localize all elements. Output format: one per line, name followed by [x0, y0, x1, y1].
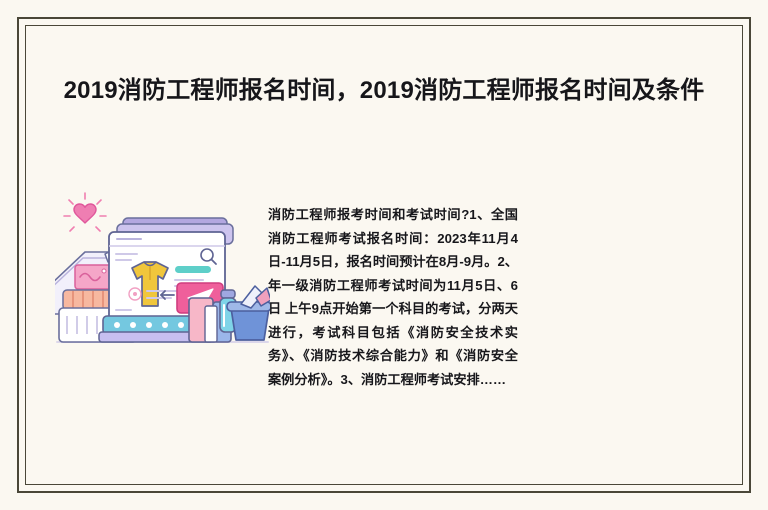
online-shopping-illustration	[55, 190, 270, 365]
article-card: 2019消防工程师报名时间，2019消防工程师报名时间及条件	[0, 0, 768, 510]
article-body-row: 消防工程师报考时间和考试时间?1、全国消防工程师考试报名时间：2023年11月4…	[25, 190, 743, 390]
article-body-text: 消防工程师报考时间和考试时间?1、全国消防工程师考试报名时间：2023年11月4…	[268, 203, 518, 391]
price-tag	[75, 265, 111, 289]
page-title: 2019消防工程师报名时间，2019消防工程师报名时间及条件	[53, 73, 715, 109]
heart-shape	[74, 204, 96, 223]
card-content: 2019消防工程师报名时间，2019消防工程师报名时间及条件	[25, 25, 743, 485]
illustration-svg	[55, 190, 270, 365]
